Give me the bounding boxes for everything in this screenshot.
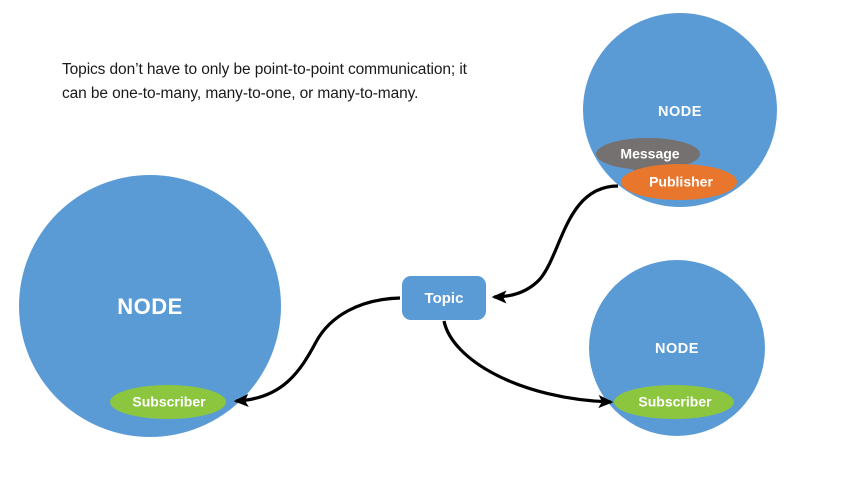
publisher-node[interactable]: NODE Message Publisher (583, 13, 777, 207)
subscriber-node-right-label: NODE (655, 341, 699, 357)
topic-to-subscriber-right-arrow[interactable] (444, 321, 611, 402)
publisher-to-topic-arrow[interactable] (494, 186, 618, 297)
subscriber-node-left[interactable]: NODE Subscriber (19, 175, 281, 437)
subscriber-pill-right-label: Subscriber (638, 394, 712, 410)
subscriber-node-right[interactable]: NODE Subscriber (589, 260, 765, 436)
subscriber-pill-left-label: Subscriber (132, 394, 206, 410)
slide-canvas: Topics don’t have to only be point-to-po… (0, 0, 854, 480)
publisher-pill-label: Publisher (649, 174, 713, 190)
message-pill-label: Message (620, 146, 679, 162)
publisher-node-label: NODE (658, 104, 702, 120)
topic-box-label: Topic (425, 290, 464, 307)
topic-box[interactable]: Topic (402, 276, 486, 320)
subscriber-node-left-label: NODE (117, 294, 183, 319)
diagram-illustration: NODE Message Publisher NODE Subscriber N… (0, 0, 854, 480)
